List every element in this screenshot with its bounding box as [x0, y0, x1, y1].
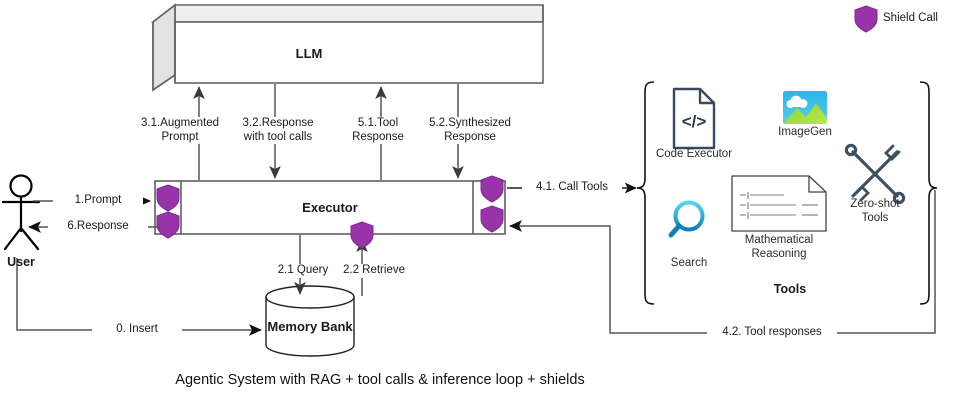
code-document-icon[interactable]: </>	[674, 89, 714, 148]
diagram-vector-layer: </>	[0, 0, 970, 411]
shield-icon-memory-retrieve	[351, 222, 373, 248]
magnifier-icon[interactable]	[671, 203, 703, 236]
diagram-canvas: </>	[0, 0, 970, 411]
edge-label-tool-response: 5.1.Tool Response	[333, 117, 423, 144]
tool-label-zero-shot-tools: Zero-shot Tools	[830, 198, 920, 225]
image-icon[interactable]	[783, 91, 827, 124]
tool-label-mathematical-reasoning: Mathematical Reasoning	[719, 234, 839, 261]
edge-label-tool-responses: 4.2. Tool responses	[707, 326, 837, 340]
user-label: User	[0, 256, 61, 270]
crossed-wrenches-icon[interactable]	[846, 145, 903, 202]
edge-label-retrieve: 2.2 Retrieve	[329, 264, 419, 278]
edge-label-response-with-tool-calls: 3.2.Response with tool calls	[223, 117, 333, 144]
svg-text:</>: </>	[682, 112, 707, 131]
tool-label-imagegen: ImageGen	[760, 126, 850, 140]
edge-label-augmented-prompt: 3.1.Augmented Prompt	[125, 117, 235, 144]
legend-shield-label: Shield Call	[883, 12, 970, 26]
memory-bank-label: Memory Bank	[240, 320, 380, 334]
diagram-caption: Agentic System with RAG + tool calls & i…	[0, 372, 760, 388]
edge-label-prompt: 1.Prompt	[53, 194, 143, 208]
llm-label: LLM	[274, 47, 344, 61]
tools-bracket-left	[637, 82, 654, 304]
shield-icon-legend	[855, 6, 877, 32]
edge-label-call-tools: 4.1. Call Tools	[522, 181, 622, 195]
edge-label-synthesized-response: 5.2.Synthesized Response	[415, 117, 525, 144]
edge-label-response: 6.Response	[48, 220, 148, 234]
tools-group-label: Tools	[745, 283, 835, 297]
user-actor[interactable]	[3, 176, 39, 250]
math-document-icon[interactable]	[732, 176, 826, 231]
edge-label-insert: 0. Insert	[92, 323, 182, 337]
llm-node[interactable]	[153, 5, 543, 90]
executor-label: Executor	[270, 201, 390, 215]
tool-label-code-executor: Code Executor	[639, 148, 749, 162]
tool-label-search: Search	[649, 257, 729, 271]
